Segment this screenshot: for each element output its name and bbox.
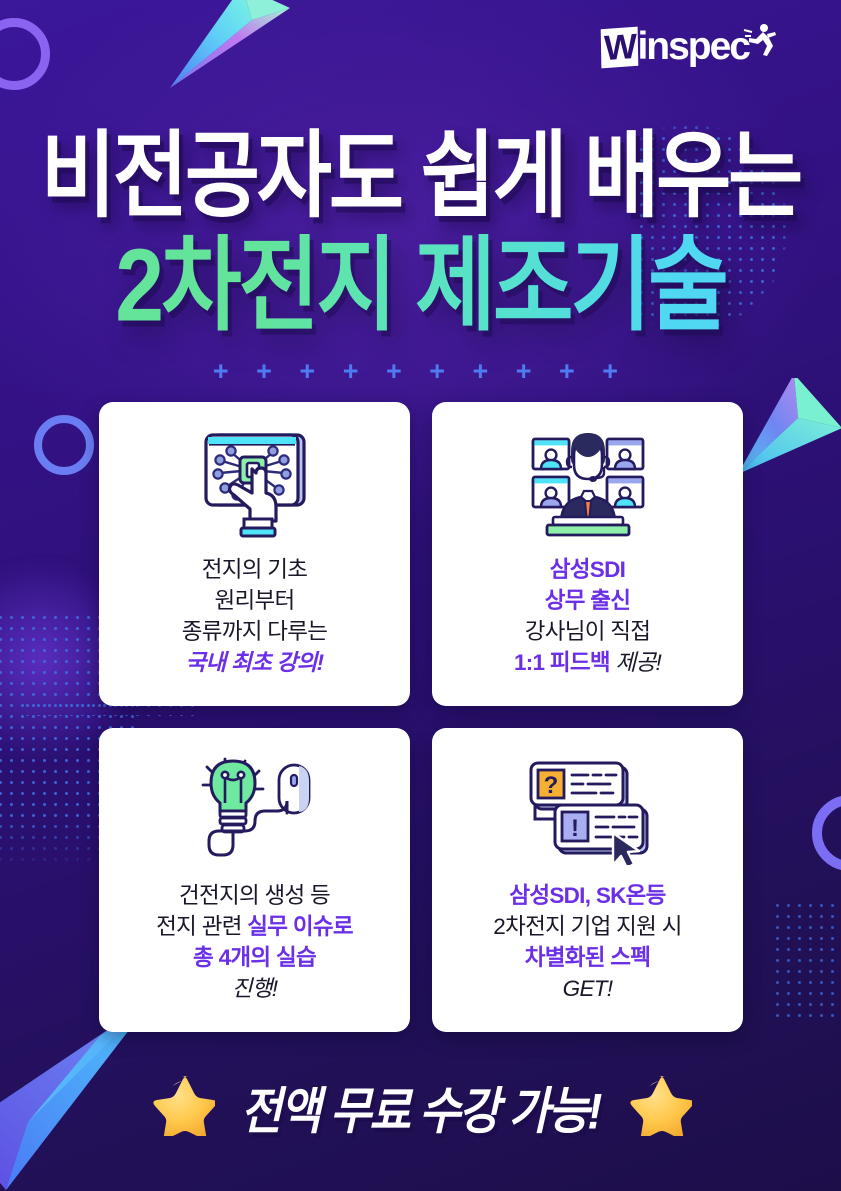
logo-mark-w: W: [601, 26, 639, 68]
card-line: 국내 최초 강의!: [182, 647, 328, 678]
svg-text:?: ?: [543, 772, 558, 799]
poster-canvas: W inspec 비전공자도 쉽게 배우는 2차전지 제조기술 + + + + …: [0, 0, 841, 1191]
card-line: 상무 출신: [514, 585, 661, 616]
brand-logo[interactable]: W inspec: [601, 24, 777, 70]
card-line: 강사님이 직접: [514, 616, 661, 647]
card-line: 삼성SDI: [514, 554, 661, 585]
gradient-arrow-right: [738, 378, 841, 518]
feature-card[interactable]: 전지의 기초 원리부터 종류까지 다루는 국내 최초 강의!: [99, 402, 410, 706]
title-line-2: 2차전지 제조기술: [0, 234, 841, 339]
card-line: 1:1 피드백 제공!: [514, 647, 661, 678]
feature-card-grid: 전지의 기초 원리부터 종류까지 다루는 국내 최초 강의!: [99, 402, 743, 1032]
feature-card[interactable]: 건전지의 생성 등 전지 관련 실무 이슈로 총 4개의 실습 진행!: [99, 728, 410, 1032]
decorative-ring-top-left: [0, 18, 50, 90]
feature-card-text: 삼성SDI 상무 출신 강사님이 직접 1:1 피드백 제공!: [514, 554, 661, 678]
card-line: 종류까지 다루는: [182, 616, 328, 647]
star-icon: [149, 1072, 215, 1141]
title-line-1: 비전공자도 쉽게 배우는: [0, 128, 841, 224]
title-block: 비전공자도 쉽게 배우는 2차전지 제조기술: [0, 128, 841, 321]
lightbulb-mouse-icon: [195, 750, 315, 868]
plus-divider: + + + + + + + + + +: [0, 356, 841, 387]
decorative-ring-mid-left: [34, 415, 94, 475]
card-line: 전지 관련 실무 이슈로: [156, 911, 353, 942]
decorative-ring-right: [812, 795, 841, 871]
card-line: 총 4개의 실습: [156, 942, 353, 973]
footer-banner: 전액 무료 수강 가능!: [0, 1072, 841, 1141]
online-lecturer-webinar-icon: [527, 424, 649, 542]
star-icon: [626, 1072, 692, 1141]
card-line: GET!: [493, 973, 681, 1004]
footer-text: 전액 무료 수강 가능!: [241, 1070, 601, 1143]
card-line: 진행!: [156, 973, 353, 1004]
halftone-dots-bottom-right: [772, 900, 841, 1020]
feature-card[interactable]: 삼성SDI 상무 출신 강사님이 직접 1:1 피드백 제공!: [432, 402, 743, 706]
card-line: 2차전지 기업 지원 시: [493, 911, 681, 942]
logo-wordmark: inspec: [637, 27, 749, 67]
gradient-arrow-top: [168, 0, 298, 104]
card-line: 삼성SDI, SK온등: [493, 880, 681, 911]
touchscreen-circuit-hand-icon: [196, 424, 314, 542]
qna-chat-bubbles-cursor-icon: ? !: [525, 750, 651, 868]
card-line: 건전지의 생성 등: [156, 880, 353, 911]
feature-card-text: 삼성SDI, SK온등 2차전지 기업 지원 시 차별화된 스펙 GET!: [493, 880, 681, 1004]
card-line: 원리부터: [182, 585, 328, 616]
card-line: 전지의 기초: [182, 554, 328, 585]
feature-card[interactable]: ? !: [432, 728, 743, 1032]
card-line: 차별화된 스펙: [493, 942, 681, 973]
feature-card-text: 건전지의 생성 등 전지 관련 실무 이슈로 총 4개의 실습 진행!: [156, 880, 353, 1004]
svg-text:!: !: [571, 815, 579, 842]
running-person-icon: [743, 22, 777, 63]
feature-card-text: 전지의 기초 원리부터 종류까지 다루는 국내 최초 강의!: [182, 554, 328, 678]
